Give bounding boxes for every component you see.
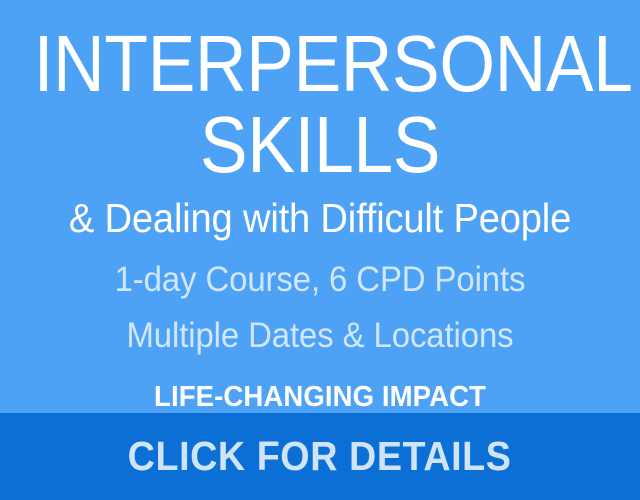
cta-button-label: CLICK FOR DETAILS (128, 436, 512, 477)
headline-line-2: SKILLS (34, 105, 607, 184)
headline-block: INTERPERSONAL SKILLS (0, 24, 640, 184)
advertisement-banner[interactable]: INTERPERSONAL SKILLS & Dealing with Diff… (0, 0, 640, 500)
course-detail-duration: 1-day Course, 6 CPD Points (19, 261, 621, 300)
headline-line-1: INTERPERSONAL (34, 24, 607, 103)
promo-panel: INTERPERSONAL SKILLS & Dealing with Diff… (0, 0, 640, 413)
subheadline: & Dealing with Difficult People (22, 196, 617, 240)
impact-statement: LIFE-CHANGING IMPACT (16, 382, 624, 414)
cta-button[interactable]: CLICK FOR DETAILS (0, 413, 640, 500)
course-detail-availability: Multiple Dates & Locations (19, 317, 621, 356)
